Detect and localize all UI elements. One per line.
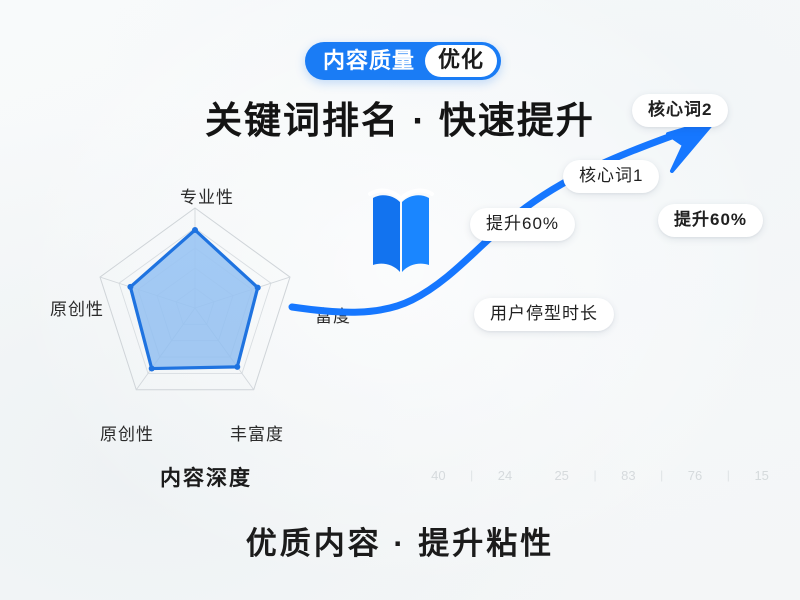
badge-main-label: 内容质量 [305,50,425,72]
radar-chart: 专业性 富度 丰富度 原创性 原创性 [30,190,360,425]
radar-data-polygon [130,230,257,369]
axis-tick-3: | [723,468,733,482]
axis-value-1: 24 [477,468,534,483]
faint-metric-axis: 40 | 24 25 | 83 | 76 | 15 [410,462,790,488]
radar-label-top: 专业性 [180,183,234,208]
radar-label-left: 原创性 [50,295,104,320]
axis-value-4: 76 [667,468,724,483]
axis-value-0: 40 [410,468,467,483]
poster-canvas: 内容质量 优化 关键词排名 · 快速提升 [0,0,800,600]
radar-label-bottom-right: 丰富度 [230,420,284,445]
axis-value-2: 25 [533,468,590,483]
pill-core-keyword-2[interactable]: 核心词2 [632,94,728,127]
pill-dwell-time[interactable]: 用户停型时长 [474,298,614,331]
axis-tick-1: | [590,468,600,482]
open-book-icon [368,184,434,280]
pill-increase-right[interactable]: 提升60% [658,204,763,237]
radar-label-bottom-left: 原创性 [100,420,154,445]
axis-tick-2: | [657,468,667,482]
content-quality-badge[interactable]: 内容质量 优化 [305,42,501,80]
footer-title: 优质内容 · 提升粘性 [0,518,800,563]
axis-tick-0: | [467,468,477,482]
radar-label-right: 富度 [315,302,351,327]
pill-increase-left[interactable]: 提升60% [470,208,575,241]
radar-caption: 内容深度 [160,462,252,492]
axis-value-3: 83 [600,468,657,483]
axis-value-5: 15 [733,468,790,483]
badge-optimize-pill: 优化 [425,45,497,77]
pill-core-keyword-1[interactable]: 核心词1 [563,160,659,193]
